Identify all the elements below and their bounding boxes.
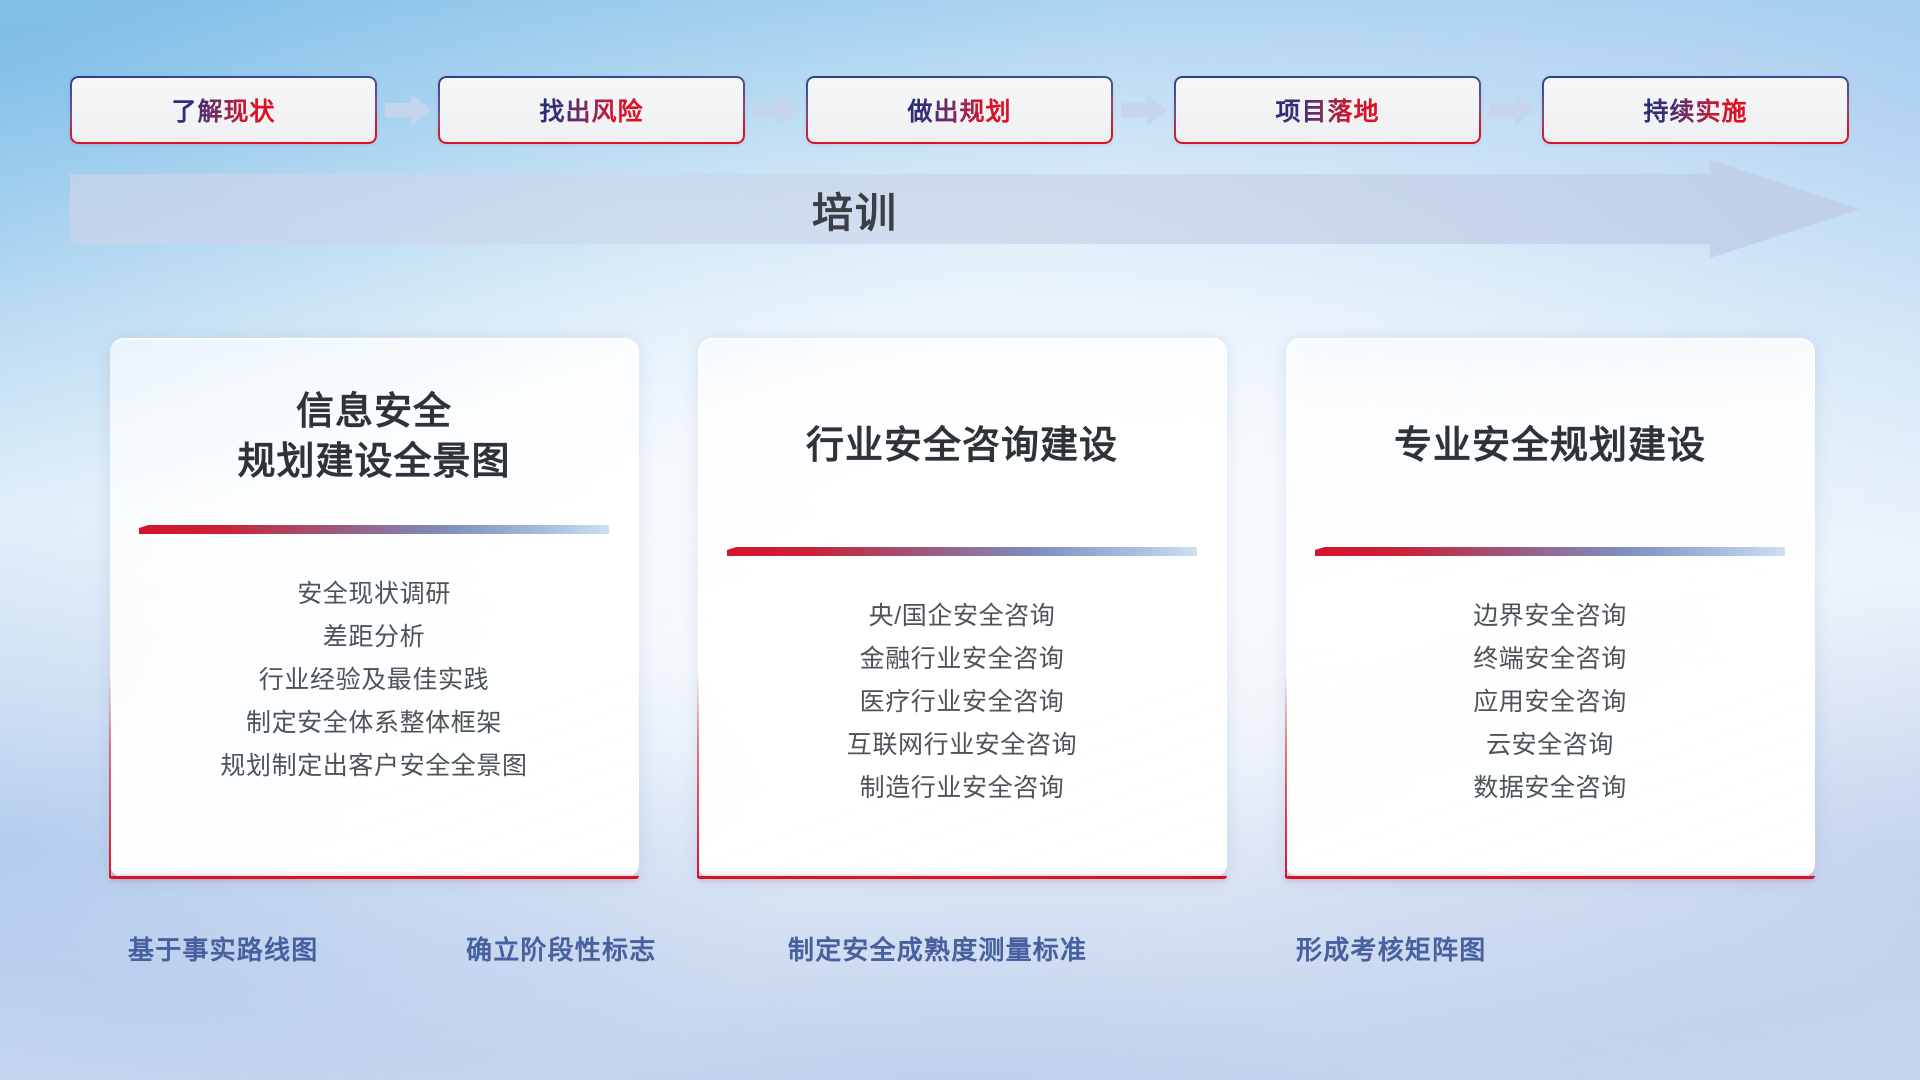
step-label-4: 项目落地: [1275, 92, 1379, 128]
list-item: 边界安全咨询: [1312, 595, 1788, 638]
card-list-3: 边界安全咨询 终端安全咨询 应用安全咨询 云安全咨询 数据安全咨询: [1312, 595, 1788, 810]
card-title-2: 行业安全咨询建设: [724, 421, 1200, 471]
step-box-5[interactable]: 持续实施: [1542, 76, 1849, 144]
list-item: 云安全咨询: [1312, 724, 1788, 767]
slide-canvas: 了解现状 找出风险 做出规划 项目落地: [0, 0, 1920, 1080]
step-label-5: 持续实施: [1643, 92, 1747, 128]
step-arrow-icon-4: [1481, 93, 1542, 127]
caption-1: 基于事实路线图: [128, 930, 318, 967]
step-label-3: 做出规划: [907, 92, 1011, 128]
list-item: 医疗行业安全咨询: [724, 681, 1200, 724]
step-box-1[interactable]: 了解现状: [70, 76, 377, 144]
process-step-flow: 了解现状 找出风险 做出规划 项目落地: [70, 76, 1850, 144]
card-title-1: 信息安全 规划建设全景图: [136, 387, 612, 487]
step-arrow-icon-1: [377, 93, 438, 127]
card-list-2: 央/国企安全咨询 金融行业安全咨询 医疗行业安全咨询 互联网行业安全咨询 制造行…: [724, 595, 1200, 810]
card-title-3: 专业安全规划建设: [1312, 421, 1788, 471]
list-item: 安全现状调研: [136, 573, 612, 616]
caption-3: 制定安全成熟度测量标准: [788, 930, 1087, 967]
list-item: 差距分析: [136, 616, 612, 659]
list-item: 行业经验及最佳实践: [136, 659, 612, 702]
list-item: 互联网行业安全咨询: [724, 724, 1200, 767]
list-item: 制造行业安全咨询: [724, 767, 1200, 810]
list-item: 规划制定出客户安全全景图: [136, 745, 612, 788]
step-box-4[interactable]: 项目落地: [1174, 76, 1481, 144]
list-item: 终端安全咨询: [1312, 638, 1788, 681]
service-cards: 信息安全 规划建设全景图: [110, 338, 1815, 878]
card-list-1: 安全现状调研 差距分析 行业经验及最佳实践 制定安全体系整体框架 规划制定出客户…: [136, 573, 612, 788]
card-industry-security-consulting[interactable]: 行业安全咨询建设: [698, 338, 1227, 878]
outcome-captions: 基于事实路线图 确立阶段性标志 制定安全成熟度测量标准 形成考核矩阵图: [0, 930, 1920, 978]
caption-4: 形成考核矩阵图: [1296, 930, 1486, 967]
step-box-2[interactable]: 找出风险: [438, 76, 745, 144]
card-divider-1: [136, 525, 612, 539]
card-professional-security-planning[interactable]: 专业安全规划建设: [1286, 338, 1815, 878]
step-arrow-icon-3: [1113, 93, 1174, 127]
list-item: 制定安全体系整体框架: [136, 702, 612, 745]
list-item: 央/国企安全咨询: [724, 595, 1200, 638]
step-box-3[interactable]: 做出规划: [806, 76, 1113, 144]
card-divider-3: [1312, 547, 1788, 561]
step-label-1: 了解现状: [171, 92, 275, 128]
list-item: 数据安全咨询: [1312, 767, 1788, 810]
step-label-2: 找出风险: [539, 92, 643, 128]
step-arrow-icon-2: [745, 93, 806, 127]
training-banner: 培训: [70, 160, 1860, 258]
card-information-security-blueprint[interactable]: 信息安全 规划建设全景图: [110, 338, 639, 878]
card-divider-2: [724, 547, 1200, 561]
list-item: 应用安全咨询: [1312, 681, 1788, 724]
banner-label: 培训: [70, 160, 1640, 258]
caption-2: 确立阶段性标志: [466, 930, 656, 967]
list-item: 金融行业安全咨询: [724, 638, 1200, 681]
